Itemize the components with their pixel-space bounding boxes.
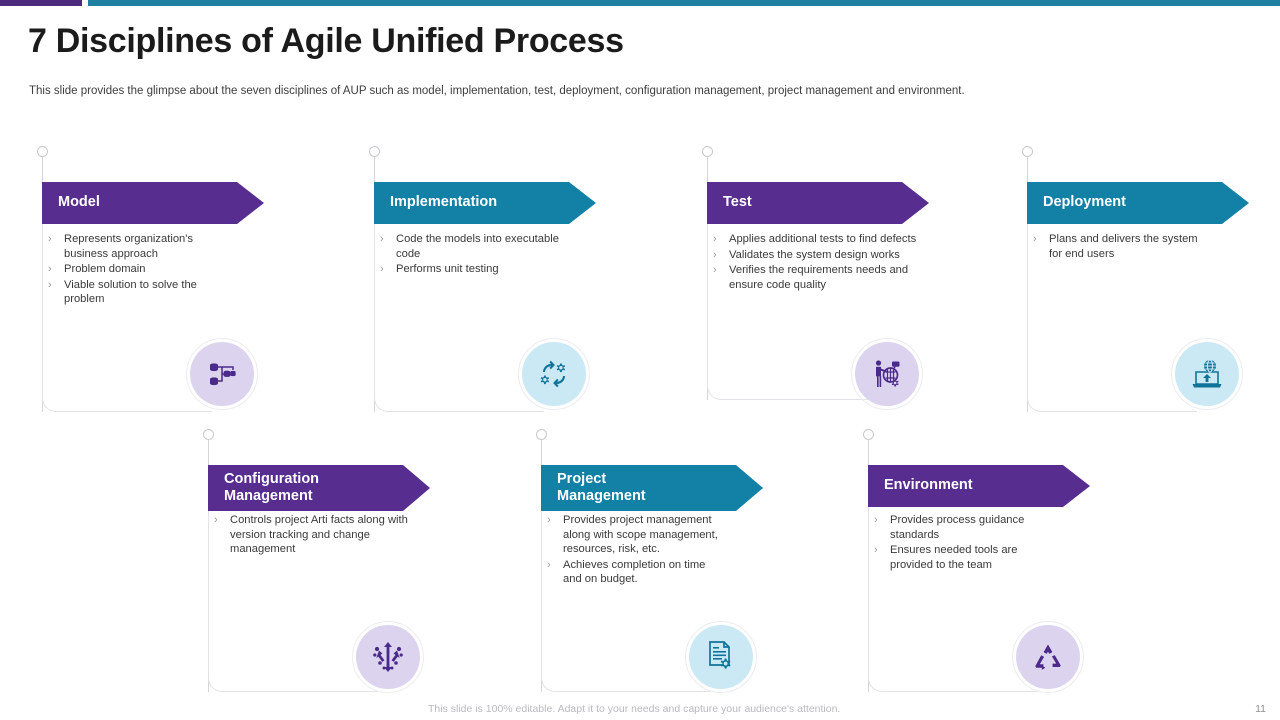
- list-item: ›Verifies the requirements needs and ens…: [713, 263, 928, 292]
- list-item: ›Applies additional tests to find defect…: [713, 232, 928, 247]
- connector-dot-icon: [702, 146, 713, 157]
- chevron-right-icon: ›: [380, 262, 396, 277]
- list-item-text: Achieves completion on time and on budge…: [563, 558, 722, 587]
- card-banner-implementation[interactable]: Implementation: [374, 182, 596, 224]
- chevron-right-icon: ›: [48, 278, 64, 307]
- list-item-text: Controls project Arti facts along with v…: [230, 513, 409, 557]
- bullet-list-model: ›Represents organization's business appr…: [48, 232, 218, 308]
- list-item-text: Code the models into executable code: [396, 232, 560, 261]
- chevron-right-icon: ›: [713, 248, 729, 263]
- list-item: ›Ensures needed tools are provided to th…: [874, 543, 1034, 572]
- page-title: 7 Disciplines of Agile Unified Process: [28, 22, 624, 61]
- list-item: ›Validates the system design works: [713, 248, 928, 263]
- slide-subtitle: This slide provides the glimpse about th…: [29, 85, 965, 97]
- list-item-text: Provides process guidance standards: [890, 513, 1034, 542]
- list-item: ›Provides process guidance standards: [874, 513, 1034, 542]
- chevron-right-icon: ›: [48, 232, 64, 261]
- chevron-right-icon: ›: [713, 232, 729, 247]
- list-item: ›Controls project Arti facts along with …: [214, 513, 409, 557]
- card-title: Configuration Management: [224, 471, 319, 505]
- bullet-list-environment: ›Provides process guidance standards›Ens…: [874, 513, 1034, 573]
- list-item: ›Provides project management along with …: [547, 513, 722, 557]
- accent-bar-purple: [0, 0, 82, 6]
- chevron-right-icon: ›: [713, 263, 729, 292]
- card-title: Environment: [884, 477, 973, 494]
- chevron-right-icon: ›: [874, 513, 890, 542]
- bullet-list-test: ›Applies additional tests to find defect…: [713, 232, 928, 293]
- bullet-list-deployment: ›Plans and delivers the system for end u…: [1033, 232, 1213, 262]
- list-item-text: Viable solution to solve the problem: [64, 278, 218, 307]
- card-banner-model[interactable]: Model: [42, 182, 264, 224]
- card-banner-test[interactable]: Test: [707, 182, 929, 224]
- connector-dot-icon: [1022, 146, 1033, 157]
- connector-dot-icon: [863, 429, 874, 440]
- laptop-globe-icon: [1175, 342, 1239, 406]
- list-item: ›Code the models into executable code: [380, 232, 560, 261]
- list-item-text: Provides project management along with s…: [563, 513, 722, 557]
- list-item: ›Achieves completion on time and on budg…: [547, 558, 722, 587]
- list-item: ›Problem domain: [48, 262, 218, 277]
- page-number: 11: [1255, 703, 1266, 715]
- chevron-right-icon: ›: [547, 558, 563, 587]
- list-item-text: Represents organization's business appro…: [64, 232, 218, 261]
- person-testing-icon: [855, 342, 919, 406]
- gears-sync-icon: [522, 342, 586, 406]
- connector-dot-icon: [536, 429, 547, 440]
- connector-dot-icon: [369, 146, 380, 157]
- bullet-list-project-management: ›Provides project management along with …: [547, 513, 722, 588]
- connector-dot-icon: [37, 146, 48, 157]
- list-item-text: Plans and delivers the system for end us…: [1049, 232, 1213, 261]
- card-banner-environment[interactable]: Environment: [868, 465, 1090, 507]
- chevron-right-icon: ›: [380, 232, 396, 261]
- list-item: ›Performs unit testing: [380, 262, 560, 277]
- list-item: ›Represents organization's business appr…: [48, 232, 218, 261]
- list-item-text: Ensures needed tools are provided to the…: [890, 543, 1034, 572]
- list-item-text: Applies additional tests to find defects: [729, 232, 916, 247]
- bullet-list-configuration-management: ›Controls project Arti facts along with …: [214, 513, 409, 558]
- version-tree-icon: [356, 625, 420, 689]
- connector-dot-icon: [203, 429, 214, 440]
- card-title: Test: [723, 194, 752, 211]
- list-item-text: Validates the system design works: [729, 248, 900, 263]
- list-item: ›Viable solution to solve the problem: [48, 278, 218, 307]
- footer-note: This slide is 100% editable. Adapt it to…: [428, 703, 840, 715]
- chevron-right-icon: ›: [874, 543, 890, 572]
- card-banner-configuration-management[interactable]: Configuration Management: [208, 465, 430, 511]
- database-network-icon: [190, 342, 254, 406]
- chevron-right-icon: ›: [547, 513, 563, 557]
- list-item: ›Plans and delivers the system for end u…: [1033, 232, 1213, 261]
- card-title: Deployment: [1043, 194, 1126, 211]
- card-banner-deployment[interactable]: Deployment: [1027, 182, 1249, 224]
- card-title: Implementation: [390, 194, 497, 211]
- list-item-text: Performs unit testing: [396, 262, 499, 277]
- card-banner-project-management[interactable]: Project Management: [541, 465, 763, 511]
- document-gear-icon: [689, 625, 753, 689]
- list-item-text: Problem domain: [64, 262, 145, 277]
- card-title: Model: [58, 194, 100, 211]
- accent-bar-teal: [88, 0, 1280, 6]
- chevron-right-icon: ›: [1033, 232, 1049, 261]
- bullet-list-implementation: ›Code the models into executable code›Pe…: [380, 232, 560, 278]
- list-item-text: Verifies the requirements needs and ensu…: [729, 263, 928, 292]
- card-title: Project Management: [557, 471, 646, 505]
- recycle-icon: [1016, 625, 1080, 689]
- chevron-right-icon: ›: [48, 262, 64, 277]
- chevron-right-icon: ›: [214, 513, 230, 557]
